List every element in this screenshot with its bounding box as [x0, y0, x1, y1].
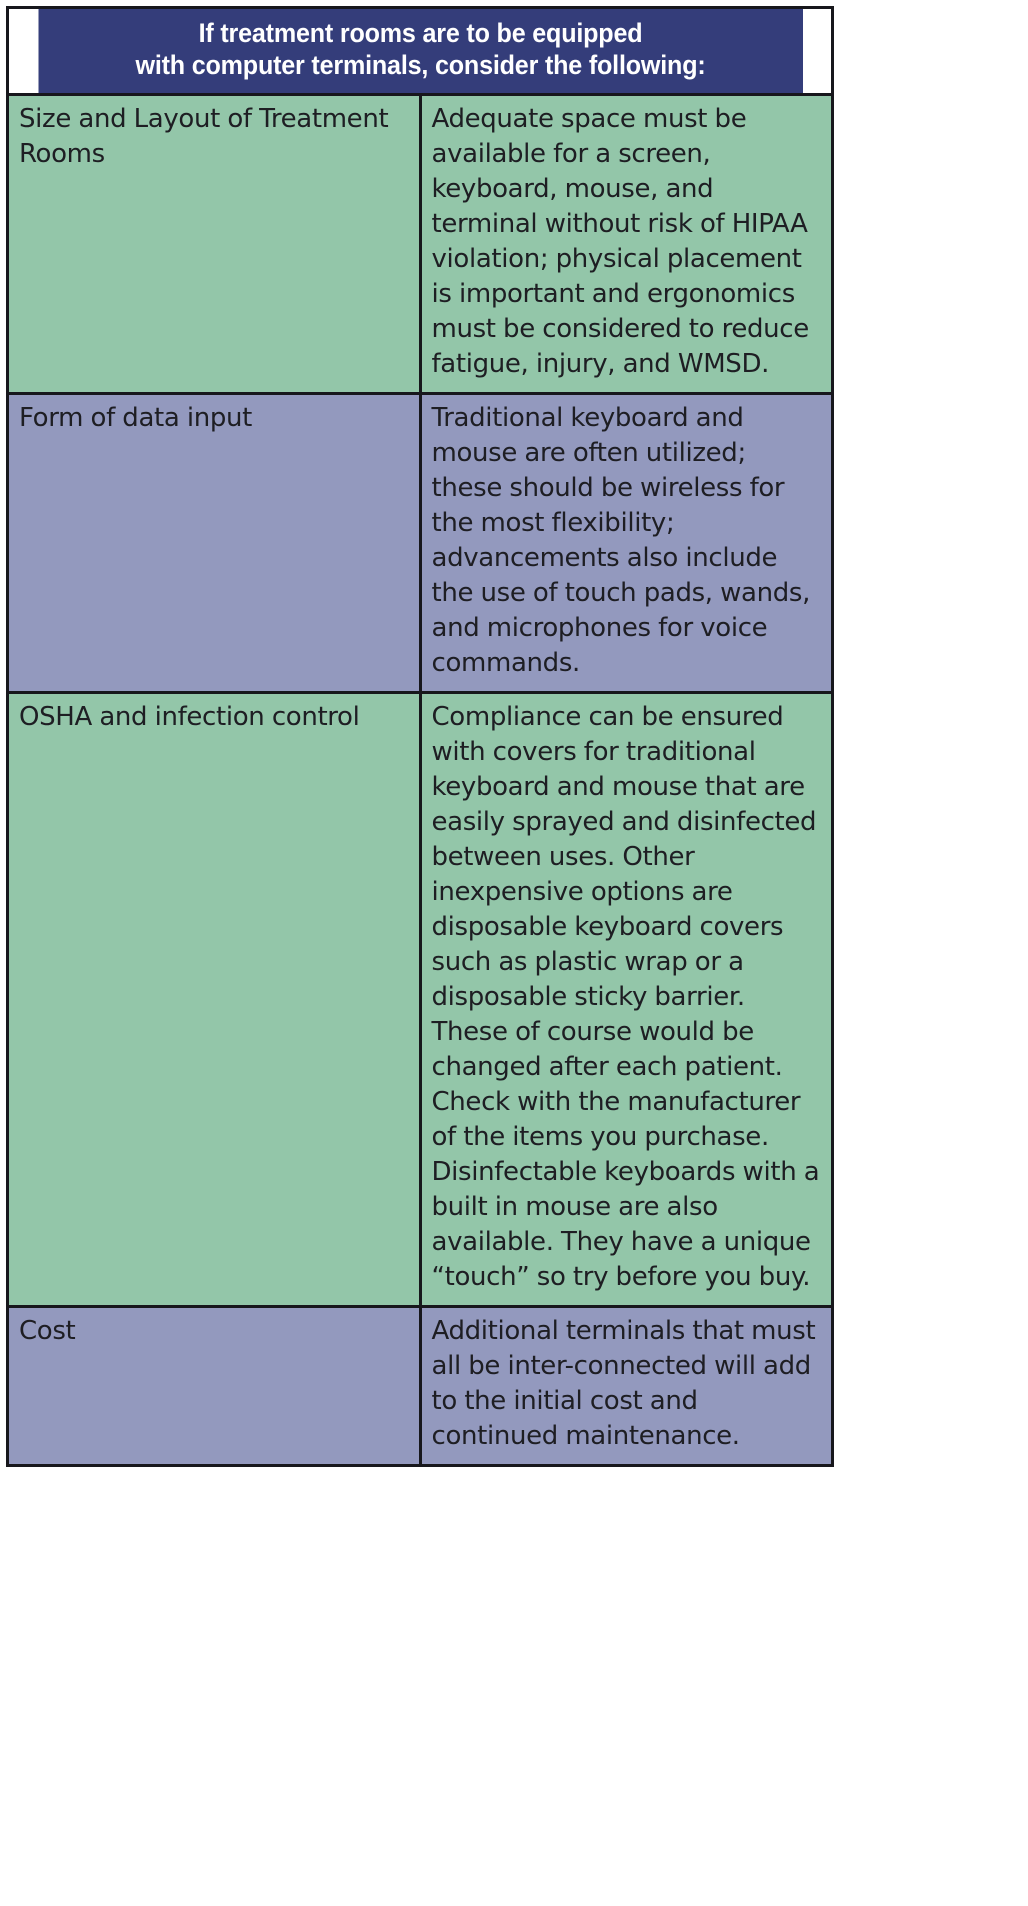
row-label-cost: Cost — [8, 1306, 421, 1465]
table-title-line-1: If treatment rooms are to be equipped — [47, 18, 793, 50]
table-body: Size and Layout of Treatment Rooms Adequ… — [8, 94, 833, 1465]
row-body-form-of-data-input: Traditional keyboard and mouse are often… — [420, 393, 833, 692]
table-row: Cost Additional terminals that must all … — [8, 1306, 833, 1465]
table-title-cell: If treatment rooms are to be equipped wi… — [36, 8, 803, 95]
row-body-osha-infection-control: Compliance can be ensured with covers fo… — [420, 692, 833, 1306]
row-label-osha-infection-control: OSHA and infection control — [8, 692, 421, 1306]
table-container: If treatment rooms are to be equipped wi… — [0, 0, 1028, 1473]
row-body-size-and-layout: Adequate space must be available for a s… — [420, 94, 833, 393]
considerations-table: If treatment rooms are to be equipped wi… — [6, 6, 834, 1467]
table-header-row: If treatment rooms are to be equipped wi… — [8, 8, 833, 95]
row-body-cost: Additional terminals that must all be in… — [420, 1306, 833, 1465]
table-row: Form of data input Traditional keyboard … — [8, 393, 833, 692]
table-row: OSHA and infection control Compliance ca… — [8, 692, 833, 1306]
row-label-size-and-layout: Size and Layout of Treatment Rooms — [8, 94, 421, 393]
table-head: If treatment rooms are to be equipped wi… — [8, 8, 833, 95]
row-label-form-of-data-input: Form of data input — [8, 393, 421, 692]
table-row: Size and Layout of Treatment Rooms Adequ… — [8, 94, 833, 393]
table-title-line-2: with computer terminals, consider the fo… — [47, 50, 793, 82]
